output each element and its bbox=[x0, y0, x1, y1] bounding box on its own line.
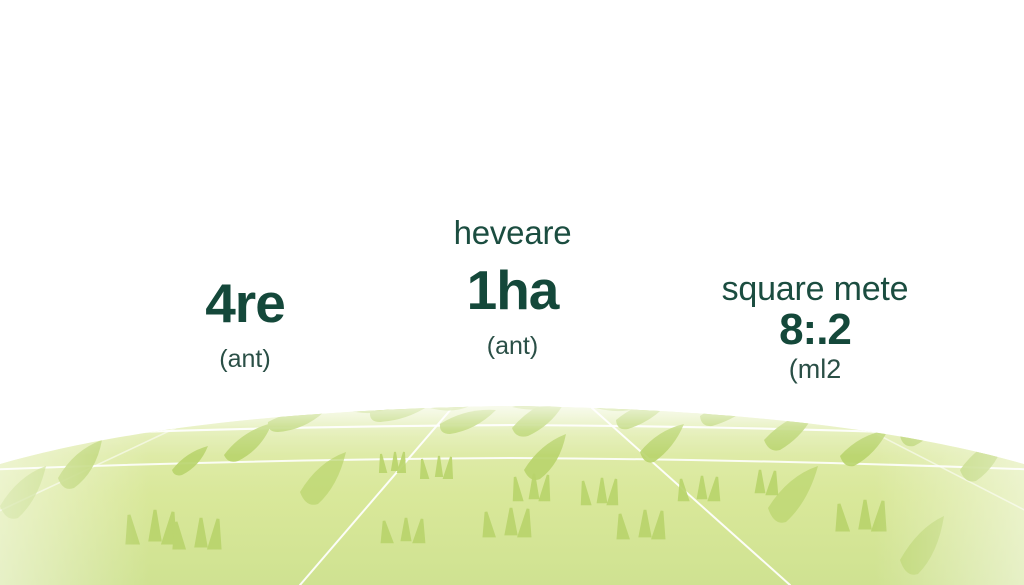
unit-sublabel-square-meter: (ml2 bbox=[660, 356, 970, 383]
unit-sublabel-are: (ant) bbox=[120, 347, 370, 372]
unit-value-hectare: 1ha bbox=[390, 263, 635, 318]
unit-column-square-meter: square mete 8:.2 (ml2 bbox=[660, 272, 970, 383]
unit-column-hectare: heveare 1ha (ant) bbox=[390, 216, 635, 359]
unit-label-group: 4re (ant) heveare 1ha (ant) square mete … bbox=[0, 0, 1024, 430]
unit-value-are: 4re bbox=[120, 276, 370, 331]
unit-value-square-meter: 8:.2 bbox=[660, 308, 970, 352]
ground-hill bbox=[0, 406, 1024, 585]
unit-column-are: 4re (ant) bbox=[120, 276, 370, 372]
perspective-grid bbox=[0, 408, 1024, 585]
unit-title-hectare: heveare bbox=[390, 216, 635, 249]
illustration-canvas: 4re (ant) heveare 1ha (ant) square mete … bbox=[0, 0, 1024, 585]
unit-title-square-meter: square mete bbox=[660, 272, 970, 306]
unit-sublabel-hectare: (ant) bbox=[390, 334, 635, 359]
